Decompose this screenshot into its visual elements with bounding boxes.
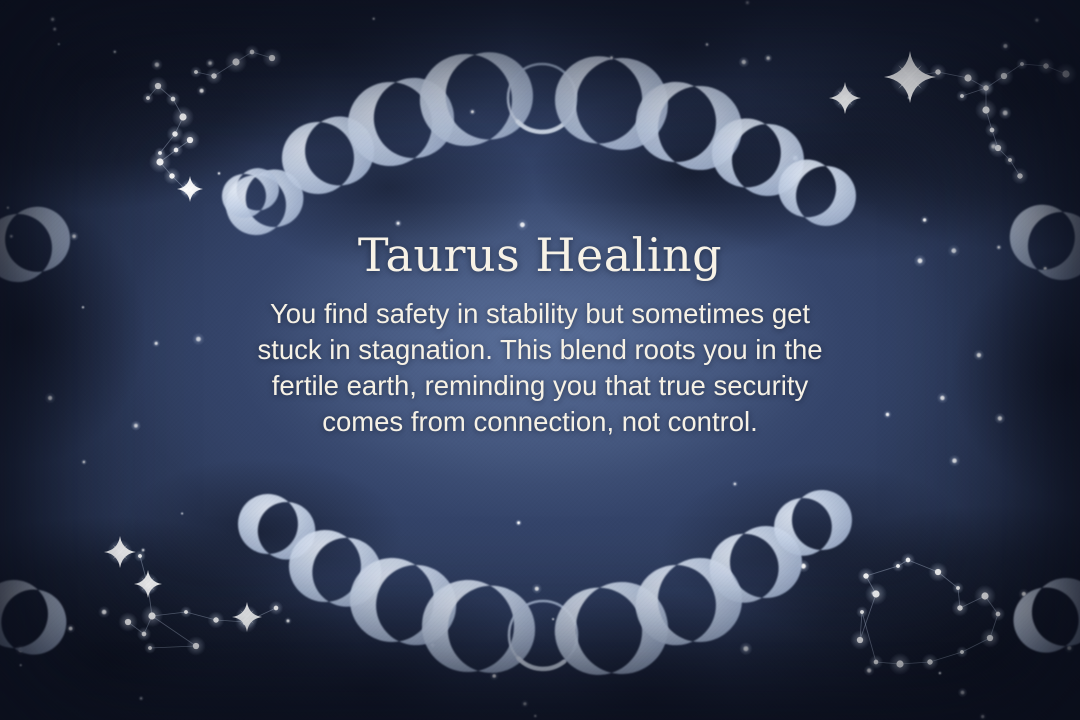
- poster-text-block: Taurus Healing You find safety in stabil…: [0, 228, 1080, 439]
- star: [471, 110, 474, 113]
- star: [83, 461, 85, 463]
- star: [706, 43, 708, 45]
- star: [208, 61, 212, 65]
- star: [743, 646, 748, 651]
- star: [53, 28, 56, 31]
- body-line: fertile earth, reminding you that true s…: [230, 368, 850, 404]
- constellation-bottom-right-polygon: [850, 553, 1005, 675]
- star: [746, 1, 749, 4]
- star: [1003, 44, 1007, 48]
- star: [734, 483, 737, 486]
- star: [867, 668, 871, 672]
- star: [1035, 19, 1038, 22]
- star: [492, 674, 496, 678]
- star: [69, 627, 73, 631]
- crescent-moon-corner-bottomleft: [0, 570, 77, 666]
- star: [961, 691, 965, 695]
- sparkle-star-lower-left: [104, 536, 136, 568]
- constellation-top-left: [190, 45, 282, 85]
- moon-phase-poster: Taurus Healing You find safety in stabil…: [0, 0, 1080, 720]
- star: [1003, 111, 1008, 116]
- star: [952, 458, 957, 463]
- star: [552, 618, 554, 620]
- star: [218, 172, 220, 174]
- star: [981, 715, 984, 718]
- star: [923, 218, 926, 221]
- star: [872, 592, 874, 594]
- sparkle-star-lower-left-2: [134, 570, 162, 598]
- star: [200, 89, 204, 93]
- star: [58, 43, 60, 45]
- star: [939, 672, 941, 674]
- star: [520, 222, 525, 227]
- star: [51, 18, 54, 21]
- star: [517, 521, 520, 524]
- star: [142, 549, 144, 551]
- star: [20, 664, 22, 666]
- constellation-lower-left-cross: [118, 550, 283, 656]
- page-title: Taurus Healing: [0, 228, 1080, 282]
- star: [742, 60, 746, 64]
- star: [523, 702, 526, 705]
- star: [140, 697, 142, 699]
- star: [114, 51, 116, 53]
- star: [287, 619, 290, 622]
- star: [373, 18, 375, 20]
- body-line: stuck in stagnation. This blend roots yo…: [230, 332, 850, 368]
- star: [7, 207, 9, 209]
- body-line: You find safety in stability but sometim…: [230, 296, 850, 332]
- star: [397, 222, 400, 225]
- star: [1067, 646, 1071, 650]
- star: [102, 610, 107, 615]
- body-description: You find safety in stability but sometim…: [230, 296, 850, 439]
- star: [535, 587, 539, 591]
- sparkle-star-upper-right-2: [829, 82, 861, 114]
- star: [767, 56, 770, 59]
- body-line: comes from connection, not control.: [230, 404, 850, 440]
- star: [155, 62, 159, 66]
- star: [991, 144, 995, 148]
- star: [534, 715, 536, 717]
- star: [181, 513, 183, 515]
- sparkle-star-left: [177, 176, 203, 202]
- constellation-right-arc: [956, 80, 1028, 185]
- sparkle-star-upper-right: [884, 51, 936, 103]
